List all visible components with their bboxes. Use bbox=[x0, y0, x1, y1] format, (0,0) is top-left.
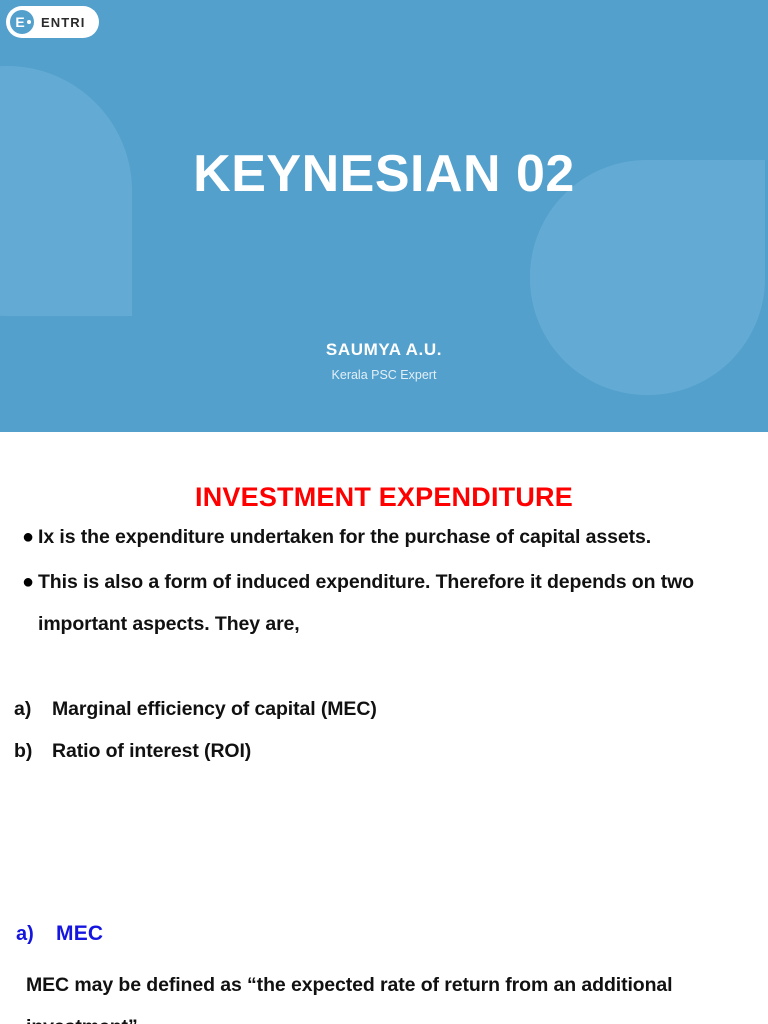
mec-marker: a) bbox=[16, 923, 56, 946]
bullet-dot-icon: ● bbox=[18, 516, 38, 558]
bullet-text: Ix is the expenditure undertaken for the… bbox=[38, 516, 722, 558]
bullet-dot-icon: ● bbox=[18, 561, 38, 603]
presenter-role: Kerala PSC Expert bbox=[0, 368, 768, 382]
list-item: a) Marginal efficiency of capital (MEC) bbox=[0, 688, 768, 730]
section-heading: INVESTMENT EXPENDITURE bbox=[0, 482, 768, 513]
mec-heading: a) MEC bbox=[16, 922, 103, 946]
slide-title: KEYNESIAN 02 SAUMYA A.U. Kerala PSC Expe… bbox=[0, 0, 768, 432]
list-item: ● This is also a form of induced expendi… bbox=[0, 561, 768, 645]
entri-wordmark: ENTRI bbox=[41, 15, 86, 30]
bullet-list: ● Ix is the expenditure undertaken for t… bbox=[0, 516, 768, 648]
list-item-marker: a) bbox=[14, 688, 52, 730]
page-title: KEYNESIAN 02 bbox=[0, 145, 768, 205]
list-item-text: Ratio of interest (ROI) bbox=[52, 730, 251, 772]
entri-logo-icon: E ENTRI bbox=[6, 6, 99, 38]
list-item-marker: b) bbox=[14, 730, 52, 772]
list-item: b) Ratio of interest (ROI) bbox=[0, 730, 768, 772]
mec-definition-text: MEC may be defined as “the expected rate… bbox=[26, 964, 726, 1024]
slide-investment-expenditure: E ENTRI INVESTMENT EXPENDITURE ● Ix is t… bbox=[0, 432, 768, 864]
slide-mec: E ENTRI a) MEC MEC may be defined as “th… bbox=[0, 864, 768, 1024]
lettered-list: a) Marginal efficiency of capital (MEC) … bbox=[0, 688, 768, 772]
presenter-name: SAUMYA A.U. bbox=[0, 340, 768, 360]
entri-mark-icon: E bbox=[10, 10, 34, 34]
presenter-block: SAUMYA A.U. Kerala PSC Expert bbox=[0, 340, 768, 382]
entri-dot-icon bbox=[27, 20, 31, 24]
slide-document: KEYNESIAN 02 SAUMYA A.U. Kerala PSC Expe… bbox=[0, 0, 768, 1024]
mec-label: MEC bbox=[56, 922, 103, 946]
list-item-text: Marginal efficiency of capital (MEC) bbox=[52, 688, 377, 730]
list-item: ● Ix is the expenditure undertaken for t… bbox=[0, 516, 768, 558]
bullet-text: This is also a form of induced expenditu… bbox=[38, 561, 722, 645]
